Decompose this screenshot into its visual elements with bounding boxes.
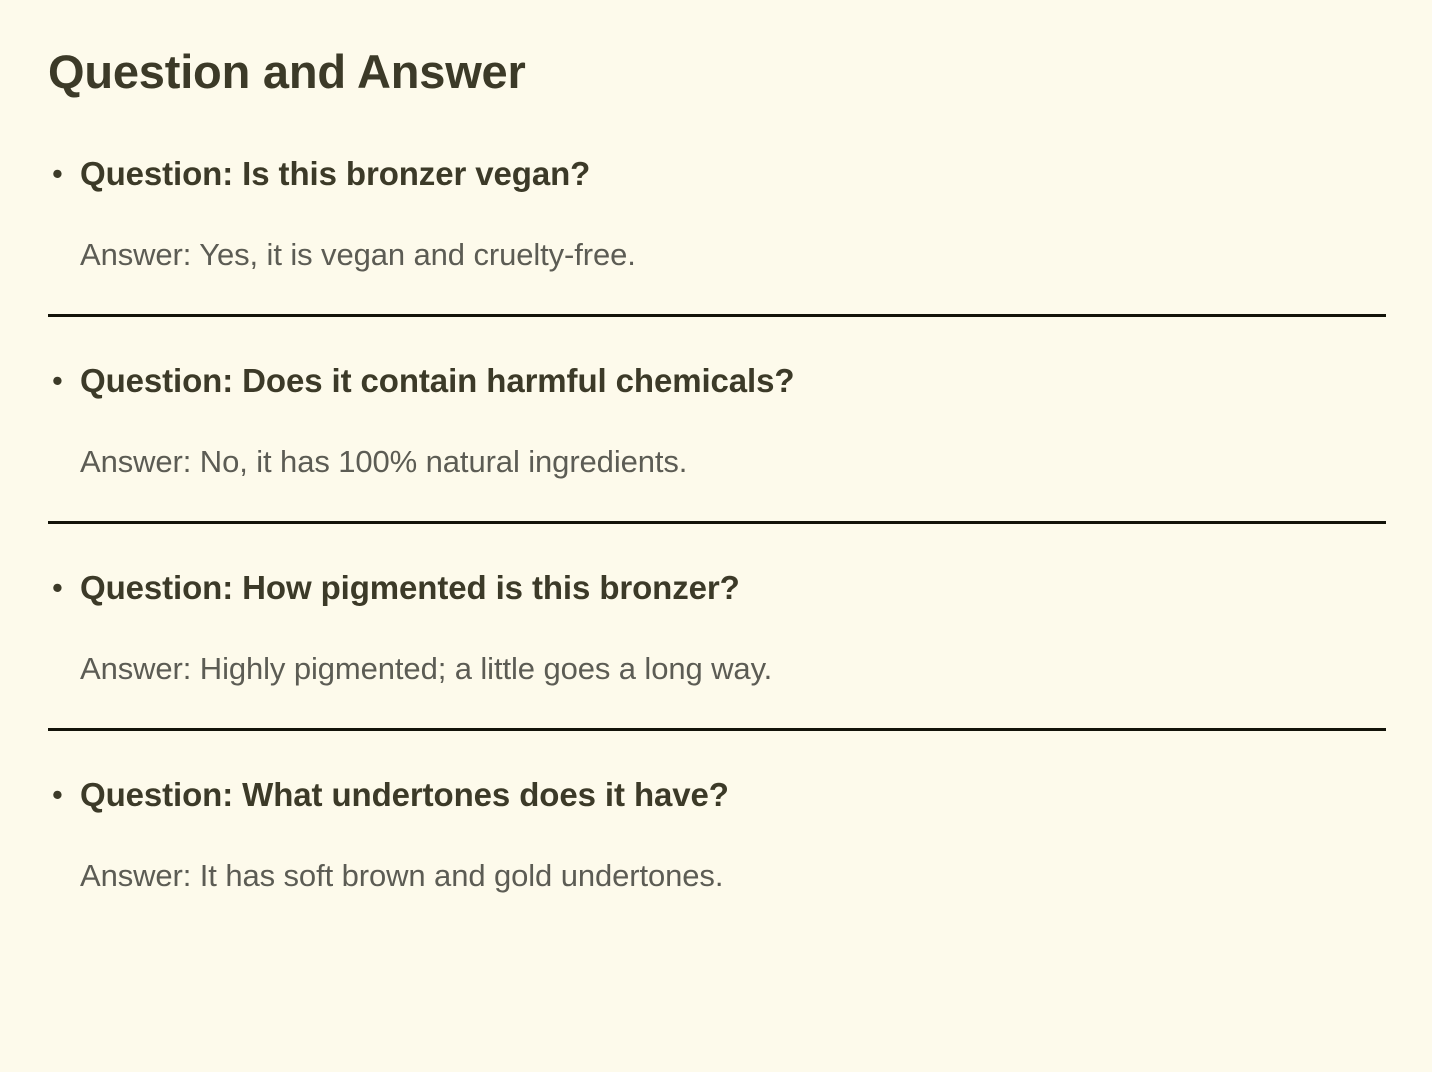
bullet-icon: •: [48, 568, 80, 608]
qa-item: • Question: How pigmented is this bronze…: [48, 521, 1386, 688]
qa-question-text: Question: How pigmented is this bronzer?: [80, 568, 1386, 608]
bullet-icon: •: [48, 361, 80, 401]
page-title: Question and Answer: [48, 46, 1386, 98]
qa-item: • Question: Is this bronzer vegan? Answe…: [48, 154, 1386, 274]
qa-item: • Question: Does it contain harmful chem…: [48, 314, 1386, 481]
bullet-icon: •: [48, 154, 80, 194]
bullet-icon: •: [48, 775, 80, 815]
qa-list: • Question: Is this bronzer vegan? Answe…: [48, 154, 1386, 895]
qa-answer-text: Answer: No, it has 100% natural ingredie…: [80, 443, 1386, 481]
qa-question-row: • Question: What undertones does it have…: [48, 775, 1386, 815]
qa-question-text: Question: Is this bronzer vegan?: [80, 154, 1386, 194]
qa-question-row: • Question: How pigmented is this bronze…: [48, 568, 1386, 608]
qa-answer-text: Answer: Highly pigmented; a little goes …: [80, 650, 1386, 688]
qa-answer-text: Answer: Yes, it is vegan and cruelty-fre…: [80, 236, 1386, 274]
question-answer-panel: Question and Answer • Question: Is this …: [0, 0, 1432, 1072]
qa-item: • Question: What undertones does it have…: [48, 728, 1386, 895]
qa-question-row: • Question: Does it contain harmful chem…: [48, 361, 1386, 401]
qa-question-text: Question: Does it contain harmful chemic…: [80, 361, 1386, 401]
qa-answer-text: Answer: It has soft brown and gold under…: [80, 857, 1386, 895]
qa-question-row: • Question: Is this bronzer vegan?: [48, 154, 1386, 194]
qa-question-text: Question: What undertones does it have?: [80, 775, 1386, 815]
